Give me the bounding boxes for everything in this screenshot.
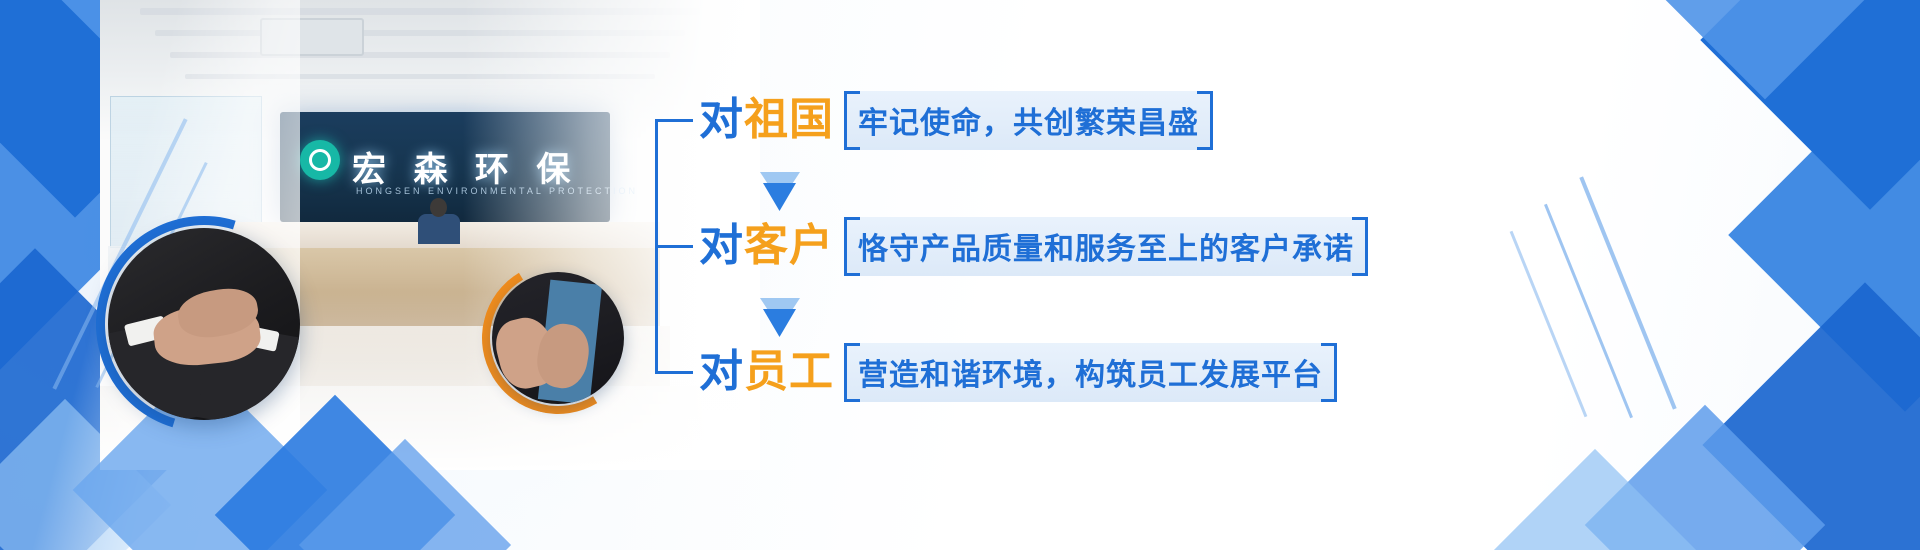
arrow-top-band <box>760 298 800 309</box>
handshake-photo <box>108 228 300 420</box>
arrow-triangle <box>763 309 796 337</box>
value-lead-prefix: 对 <box>699 95 744 144</box>
value-phrase-3: 营造和谐环境，构筑员工发展平台 <box>844 343 1337 402</box>
value-row-3: 对员工 营造和谐环境，构筑员工发展平台 <box>655 344 1337 400</box>
value-phrase-1: 牢记使命，共创繁荣昌盛 <box>844 91 1213 150</box>
connector-tick <box>655 119 693 122</box>
value-lead-1: 对祖国 <box>699 98 834 142</box>
value-row-1: 对祖国 牢记使命，共创繁荣昌盛 <box>655 92 1213 148</box>
value-lead-2: 对客户 <box>699 224 834 268</box>
applause-photo <box>492 272 624 404</box>
value-lead-prefix: 对 <box>699 347 744 396</box>
value-lead-3: 对员工 <box>699 350 834 394</box>
value-lead-subject: 客户 <box>744 221 834 270</box>
connector-tick <box>655 371 693 374</box>
connector-tick <box>655 245 693 248</box>
down-arrow-icon <box>760 298 800 337</box>
values-list: 对祖国 牢记使命，共创繁荣昌盛 对客户 恪守产品质量和服务至上的客户承诺 对员工… <box>655 74 1355 404</box>
value-phrase-2: 恪守产品质量和服务至上的客户承诺 <box>844 217 1368 276</box>
down-arrow-icon <box>760 172 800 211</box>
arrow-top-band <box>760 172 800 183</box>
value-row-2: 对客户 恪守产品质量和服务至上的客户承诺 <box>655 218 1368 274</box>
value-lead-subject: 员工 <box>744 347 834 396</box>
value-lead-prefix: 对 <box>699 221 744 270</box>
banner-canvas: 宏 森 环 保 HONGSEN ENVIRONMENTAL PROTECTION <box>0 0 1920 550</box>
arrow-triangle <box>763 183 796 211</box>
value-lead-subject: 祖国 <box>744 95 834 144</box>
